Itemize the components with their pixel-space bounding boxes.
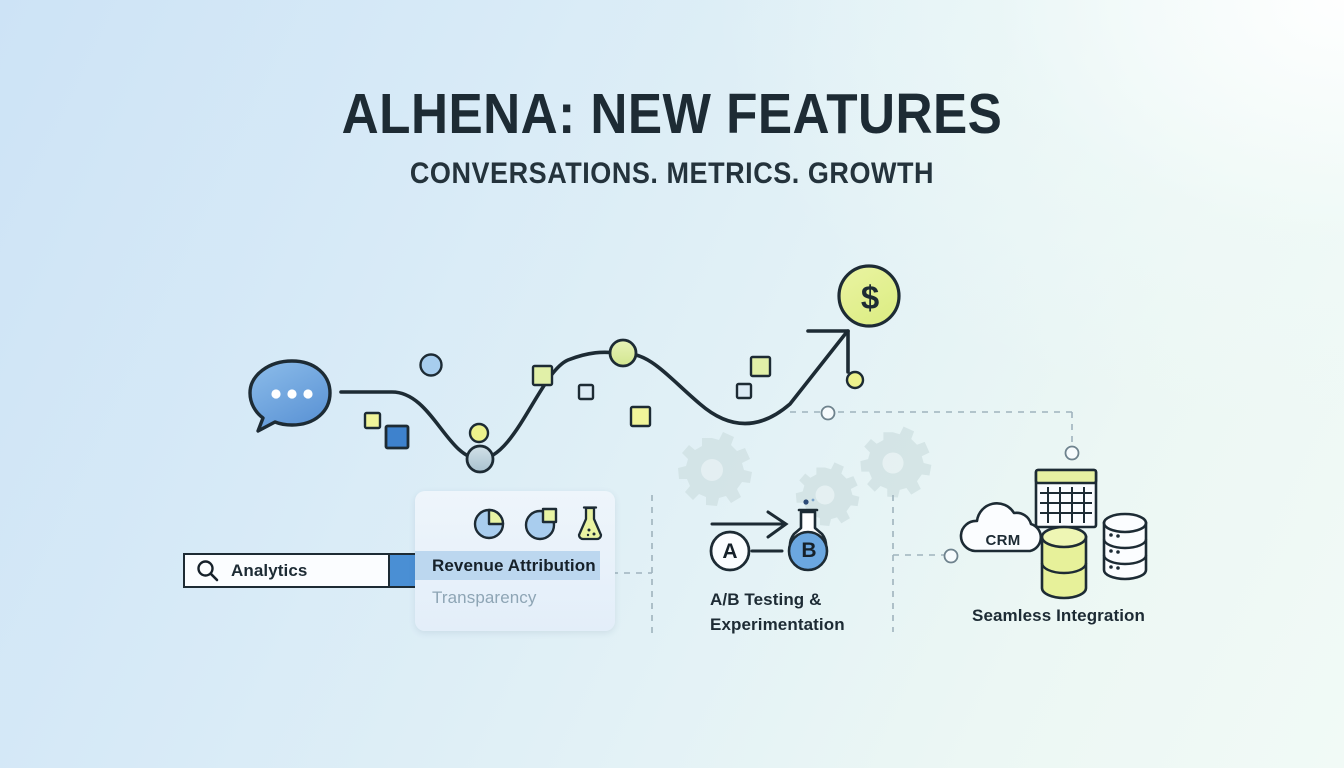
integration-label: Seamless Integration	[972, 604, 1192, 629]
crm-label: CRM	[979, 532, 1027, 549]
poster-canvas: ALHENA: NEW FEATURES CONVERSATIONS. METR…	[0, 0, 1344, 768]
database-icon	[1104, 514, 1146, 579]
database-icon	[1042, 527, 1086, 598]
calendar-icon	[1036, 470, 1096, 527]
integration-graphic	[0, 0, 1344, 768]
